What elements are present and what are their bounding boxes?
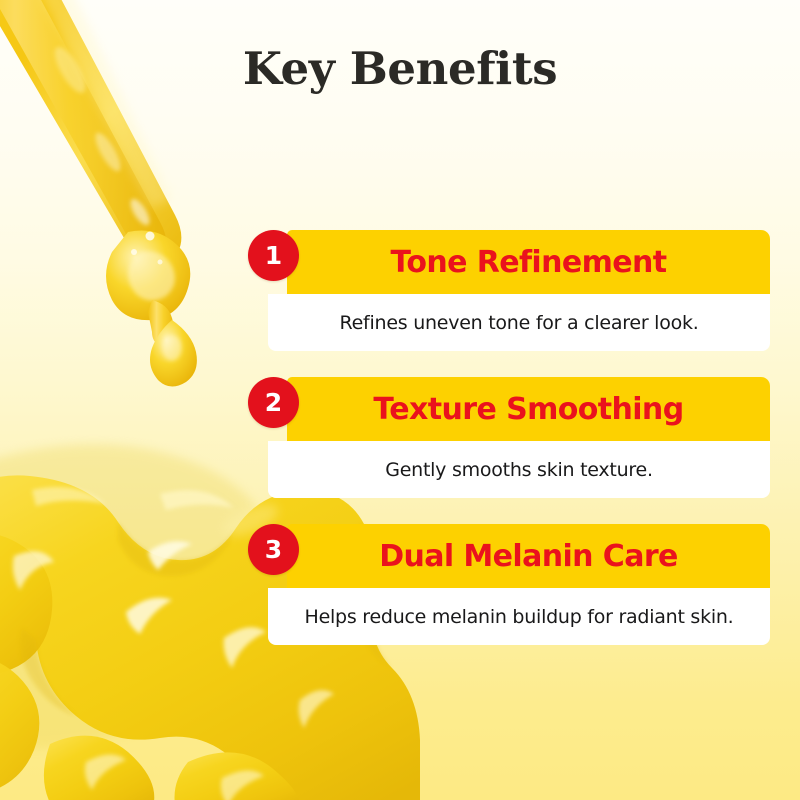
benefit-description-3: Helps reduce melanin buildup for radiant… (305, 606, 734, 628)
benefit-title-2: Texture Smoothing (373, 392, 683, 427)
page-title: Key Benefits (0, 42, 800, 95)
benefit-description-bar-2: Gently smooths skin texture. (268, 441, 770, 498)
benefit-number-badge-2: 2 (248, 377, 299, 428)
benefit-number-badge-3: 3 (248, 524, 299, 575)
benefit-description-bar-3: Helps reduce melanin buildup for radiant… (268, 588, 770, 645)
benefit-title-bar-2: Texture Smoothing (287, 377, 770, 441)
benefit-item-3: 3 Dual Melanin Care Helps reduce melanin… (268, 524, 770, 645)
benefits-infographic: Key Benefits 1 Tone Refinement Refines u… (0, 0, 800, 800)
benefit-description-1: Refines uneven tone for a clearer look. (340, 312, 699, 334)
benefit-description-2: Gently smooths skin texture. (385, 459, 652, 481)
benefit-item-1: 1 Tone Refinement Refines uneven tone fo… (268, 230, 770, 351)
benefit-item-2: 2 Texture Smoothing Gently smooths skin … (268, 377, 770, 498)
benefit-title-3: Dual Melanin Care (379, 539, 678, 574)
benefit-title-bar-3: Dual Melanin Care (287, 524, 770, 588)
benefit-number-badge-1: 1 (248, 230, 299, 281)
benefit-description-bar-1: Refines uneven tone for a clearer look. (268, 294, 770, 351)
benefits-list: 1 Tone Refinement Refines uneven tone fo… (268, 204, 770, 645)
benefit-title-bar-1: Tone Refinement (287, 230, 770, 294)
benefit-title-1: Tone Refinement (390, 245, 666, 280)
